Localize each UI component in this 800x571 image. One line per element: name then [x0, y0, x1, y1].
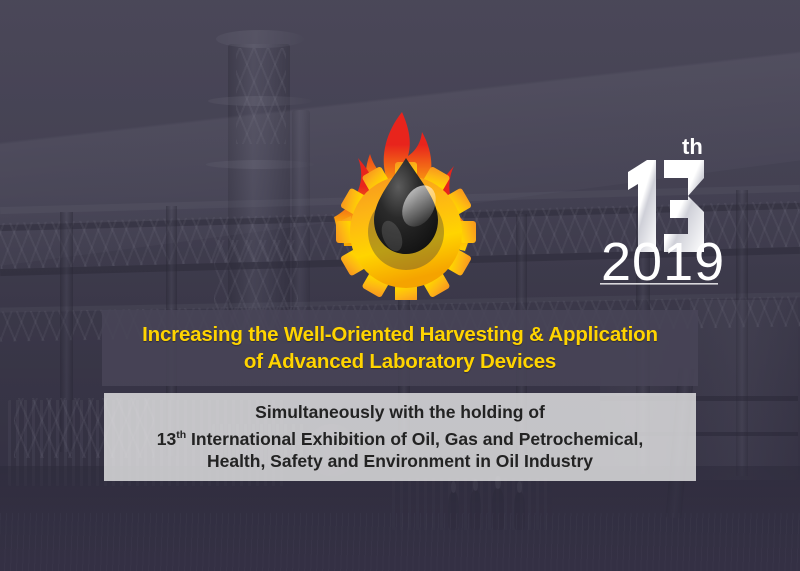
- edition-year: 2019: [601, 232, 725, 285]
- event-poster-banner: th 2019 Increasing the Well-Oriented Har…: [0, 0, 800, 571]
- subtitle-line-2-rest: International Exhibition of Oil, Gas and…: [186, 428, 643, 448]
- headline-block: Increasing the Well-Oriented Harvesting …: [102, 310, 698, 386]
- edition-badge: th 2019: [600, 120, 730, 285]
- headline-line-2: of Advanced Laboratory Devices: [244, 348, 556, 375]
- subtitle-ordinal-suffix: th: [176, 429, 186, 441]
- flame-gear-oildrop-logo: [318, 108, 494, 300]
- headline-line-1: Increasing the Well-Oriented Harvesting …: [142, 321, 658, 348]
- subtitle-ordinal-number: 13: [157, 428, 176, 448]
- subtitle-block: Simultaneously with the holding of 13th …: [104, 393, 696, 481]
- edition-underline: [600, 283, 718, 285]
- subtitle-line-1: Simultaneously with the holding of: [255, 401, 545, 424]
- edition-ordinal: th: [682, 134, 703, 159]
- subtitle-line-2: 13th International Exhibition of Oil, Ga…: [157, 424, 643, 451]
- subtitle-line-3: Health, Safety and Environment in Oil In…: [207, 450, 593, 473]
